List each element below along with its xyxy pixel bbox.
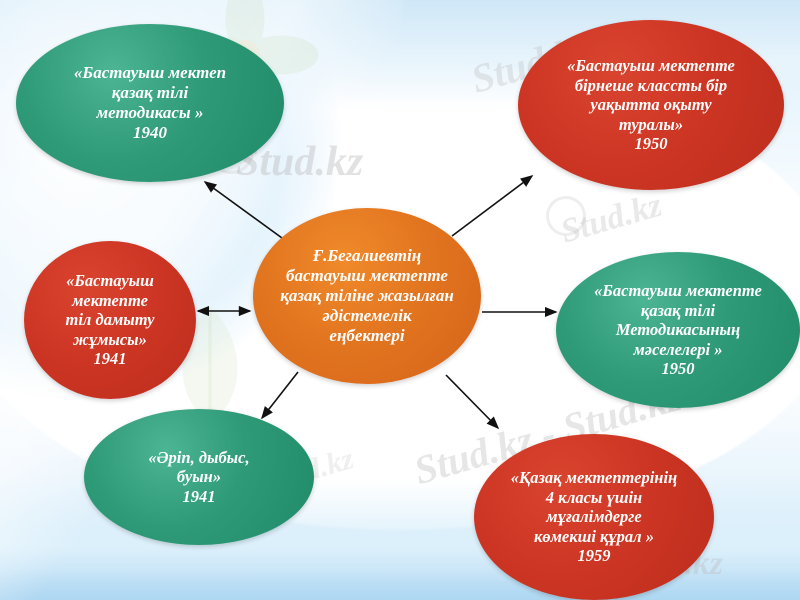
- node-top-left-label: «Бастауыш мектеп қазақ тілі методикасы »…: [64, 63, 236, 143]
- node-bottom-left-label: «Әріп, дыбыс, буын» 1941: [138, 448, 259, 506]
- node-mid-right[interactable]: «Бастауыш мектепте қазақ тілі Методикасы…: [556, 252, 800, 408]
- node-center-label: Ғ.Бегалиевтің бастауыш мектепте қазақ ті…: [270, 246, 464, 346]
- slide-canvas: Stud.kz Stud.kz Stud.kz Stud.kz Stud.kz …: [0, 0, 800, 600]
- arrow-center-to-bottom-right: [446, 375, 498, 428]
- arrow-center-to-top-right: [452, 176, 532, 236]
- arrow-center-to-top-left: [205, 182, 282, 238]
- node-mid-left-label: «Бастауыш мектепте тіл дамыту жұмысы» 19…: [56, 271, 165, 368]
- node-bottom-right-label: «Қазақ мектептерінің 4 класы үшін мұғалі…: [501, 468, 687, 565]
- node-bottom-right[interactable]: «Қазақ мектептерінің 4 класы үшін мұғалі…: [474, 434, 714, 600]
- arrow-center-to-bottom-left: [262, 372, 298, 418]
- node-top-right[interactable]: «Бастауыш мектепте бірнеше классты бір у…: [518, 20, 784, 190]
- node-top-right-label: «Бастауыш мектепте бірнеше классты бір у…: [557, 56, 745, 153]
- node-top-left[interactable]: «Бастауыш мектеп қазақ тілі методикасы »…: [16, 24, 284, 182]
- node-mid-left[interactable]: «Бастауыш мектепте тіл дамыту жұмысы» 19…: [24, 241, 196, 399]
- node-mid-right-label: «Бастауыш мектепте қазақ тілі Методикасы…: [584, 281, 772, 378]
- node-bottom-left[interactable]: «Әріп, дыбыс, буын» 1941: [84, 409, 314, 545]
- node-center[interactable]: Ғ.Бегалиевтің бастауыш мектепте қазақ ті…: [253, 208, 481, 384]
